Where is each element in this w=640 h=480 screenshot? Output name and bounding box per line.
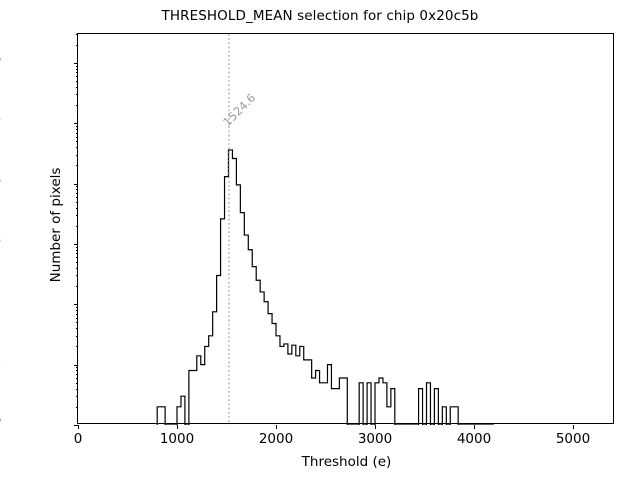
y-tick-minor bbox=[76, 318, 78, 319]
y-tick-minor bbox=[76, 137, 78, 138]
x-tick-major bbox=[78, 425, 79, 429]
y-tick-label: 103 bbox=[0, 236, 1, 252]
y-tick-label: 100 bbox=[0, 417, 1, 433]
y-tick-minor bbox=[76, 374, 78, 375]
y-tick-label: 102 bbox=[0, 296, 1, 312]
y-tick-minor bbox=[76, 310, 78, 311]
y-tick-minor bbox=[76, 147, 78, 148]
x-tick-major bbox=[573, 425, 574, 429]
y-tick-minor bbox=[76, 396, 78, 397]
y-tick-major bbox=[74, 244, 78, 245]
y-tick-minor bbox=[76, 262, 78, 263]
x-tick-label: 1000 bbox=[160, 431, 194, 447]
y-tick-minor bbox=[76, 346, 78, 347]
y-tick-minor bbox=[76, 133, 78, 134]
y-tick-minor bbox=[76, 275, 78, 276]
y-tick-minor bbox=[76, 165, 78, 166]
y-tick-minor bbox=[76, 250, 78, 251]
y-tick-minor bbox=[76, 328, 78, 329]
y-tick-major bbox=[74, 304, 78, 305]
y-tick-minor bbox=[76, 76, 78, 77]
y-tick-minor bbox=[76, 378, 78, 379]
y-tick-major bbox=[74, 365, 78, 366]
y-tick-minor bbox=[76, 69, 78, 70]
y-tick-minor bbox=[76, 367, 78, 368]
y-tick-minor bbox=[76, 34, 78, 35]
y-tick-minor bbox=[76, 129, 78, 130]
y-tick-major bbox=[74, 63, 78, 64]
x-tick-label: 4000 bbox=[457, 431, 491, 447]
y-tick-major bbox=[74, 123, 78, 124]
y-tick-minor bbox=[76, 186, 78, 187]
y-tick-minor bbox=[76, 215, 78, 216]
y-tick-minor bbox=[76, 197, 78, 198]
y-tick-minor bbox=[76, 105, 78, 106]
y-tick-minor bbox=[76, 286, 78, 287]
x-tick-major bbox=[474, 425, 475, 429]
y-tick-minor bbox=[76, 202, 78, 203]
y-tick-minor bbox=[76, 389, 78, 390]
y-tick-minor bbox=[76, 322, 78, 323]
x-tick-label: 2000 bbox=[259, 431, 293, 447]
y-tick-label: 104 bbox=[0, 176, 1, 192]
y-tick-minor bbox=[76, 66, 78, 67]
x-tick-label: 3000 bbox=[358, 431, 392, 447]
y-tick-minor bbox=[76, 87, 78, 88]
histogram-step-line bbox=[157, 150, 494, 425]
y-tick-minor bbox=[76, 193, 78, 194]
y-tick-minor bbox=[76, 189, 78, 190]
x-tick-major bbox=[375, 425, 376, 429]
y-tick-minor bbox=[76, 94, 78, 95]
y-tick-label: 106 bbox=[0, 55, 1, 71]
y-tick-minor bbox=[76, 155, 78, 156]
y-tick-minor bbox=[76, 141, 78, 142]
x-axis-label: Threshold (e) bbox=[78, 454, 615, 470]
y-tick-label: 101 bbox=[0, 357, 1, 373]
y-tick-minor bbox=[76, 226, 78, 227]
x-tick-label: 5000 bbox=[556, 431, 590, 447]
x-tick-major bbox=[276, 425, 277, 429]
histogram-plot bbox=[78, 34, 615, 425]
y-tick-minor bbox=[76, 253, 78, 254]
y-tick-minor bbox=[76, 407, 78, 408]
plot-axes: 1524.6 Number of pixels Threshold (e) 10… bbox=[77, 33, 614, 424]
y-tick-minor bbox=[76, 370, 78, 371]
y-tick-minor bbox=[76, 126, 78, 127]
y-tick-minor bbox=[76, 268, 78, 269]
y-tick-minor bbox=[76, 72, 78, 73]
y-axis-label: Number of pixels bbox=[48, 15, 64, 435]
y-tick-minor bbox=[76, 314, 78, 315]
y-tick-minor bbox=[76, 45, 78, 46]
y-tick-minor bbox=[76, 81, 78, 82]
y-tick-minor bbox=[76, 257, 78, 258]
y-tick-minor bbox=[76, 307, 78, 308]
y-tick-major bbox=[74, 184, 78, 185]
y-tick-minor bbox=[76, 336, 78, 337]
y-tick-minor bbox=[76, 208, 78, 209]
x-tick-label: 0 bbox=[74, 431, 83, 447]
x-tick-major bbox=[177, 425, 178, 429]
figure-canvas: THRESHOLD_MEAN selection for chip 0x20c5… bbox=[0, 0, 640, 480]
page-title: THRESHOLD_MEAN selection for chip 0x20c5… bbox=[0, 8, 640, 24]
y-tick-minor bbox=[76, 383, 78, 384]
y-tick-label: 105 bbox=[0, 115, 1, 131]
y-tick-minor bbox=[76, 247, 78, 248]
